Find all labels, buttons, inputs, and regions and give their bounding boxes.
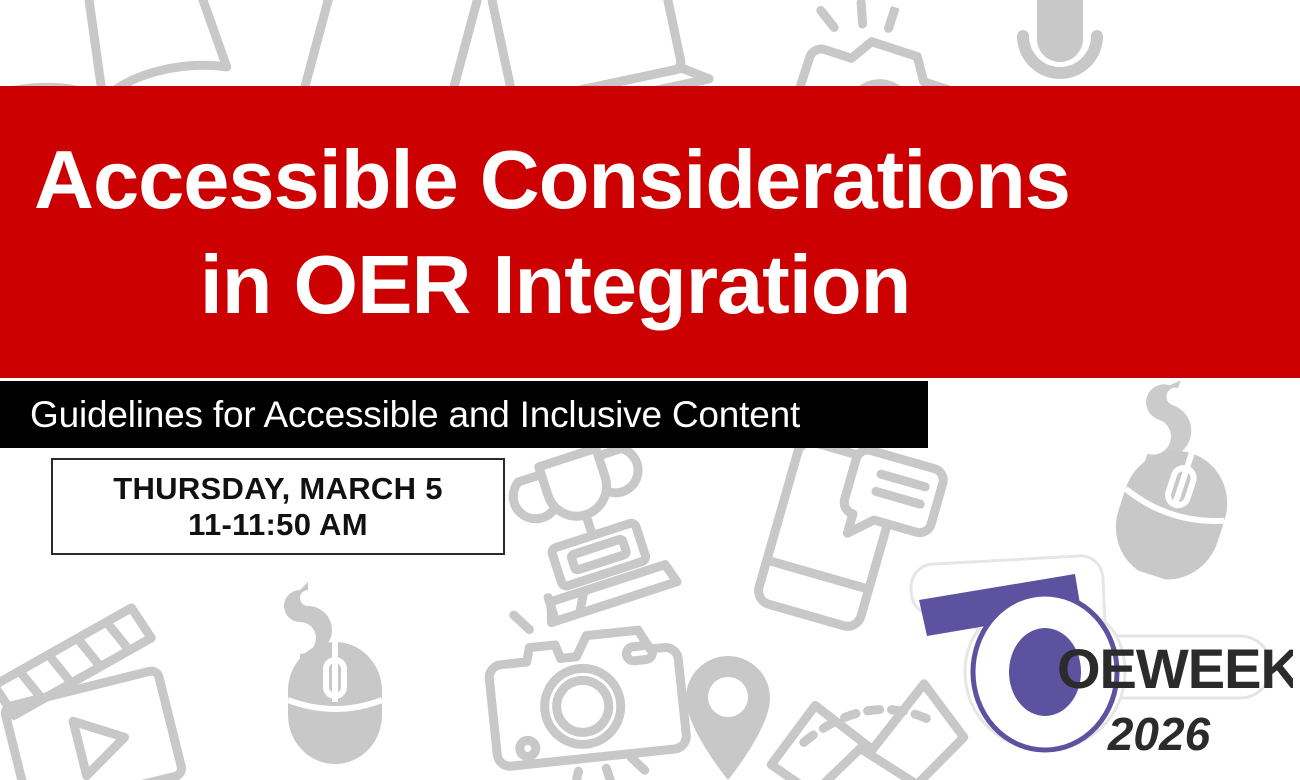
subtitle-text: Guidelines for Accessible and Inclusive … (30, 396, 800, 433)
date-time-box: THURSDAY, MARCH 5 11-11:50 AM (51, 458, 505, 555)
computer-mouse-icon-left (272, 582, 397, 777)
trophy-icon (477, 416, 702, 638)
camera-icon-bottom (468, 579, 703, 780)
time-line: 11-11:50 AM (188, 507, 368, 543)
title-band: Accessible Considerations in OER Integra… (0, 86, 1300, 378)
subtitle-band: Guidelines for Accessible and Inclusive … (0, 381, 928, 448)
film-clapperboard-icon (0, 592, 200, 780)
logo-wordmark-text: OEWEEK (1057, 637, 1293, 700)
title-line-1: Accessible Considerations (34, 138, 1266, 221)
event-poster: Accessible Considerations in OER Integra… (0, 0, 1300, 780)
title-line-2: in OER Integration (34, 243, 1266, 326)
date-line: THURSDAY, MARCH 5 (113, 471, 443, 507)
oeweek-logo: OEWEEK 2026 (893, 550, 1293, 775)
logo-year-text: 2026 (1107, 708, 1211, 760)
location-pin-icon (676, 650, 781, 780)
